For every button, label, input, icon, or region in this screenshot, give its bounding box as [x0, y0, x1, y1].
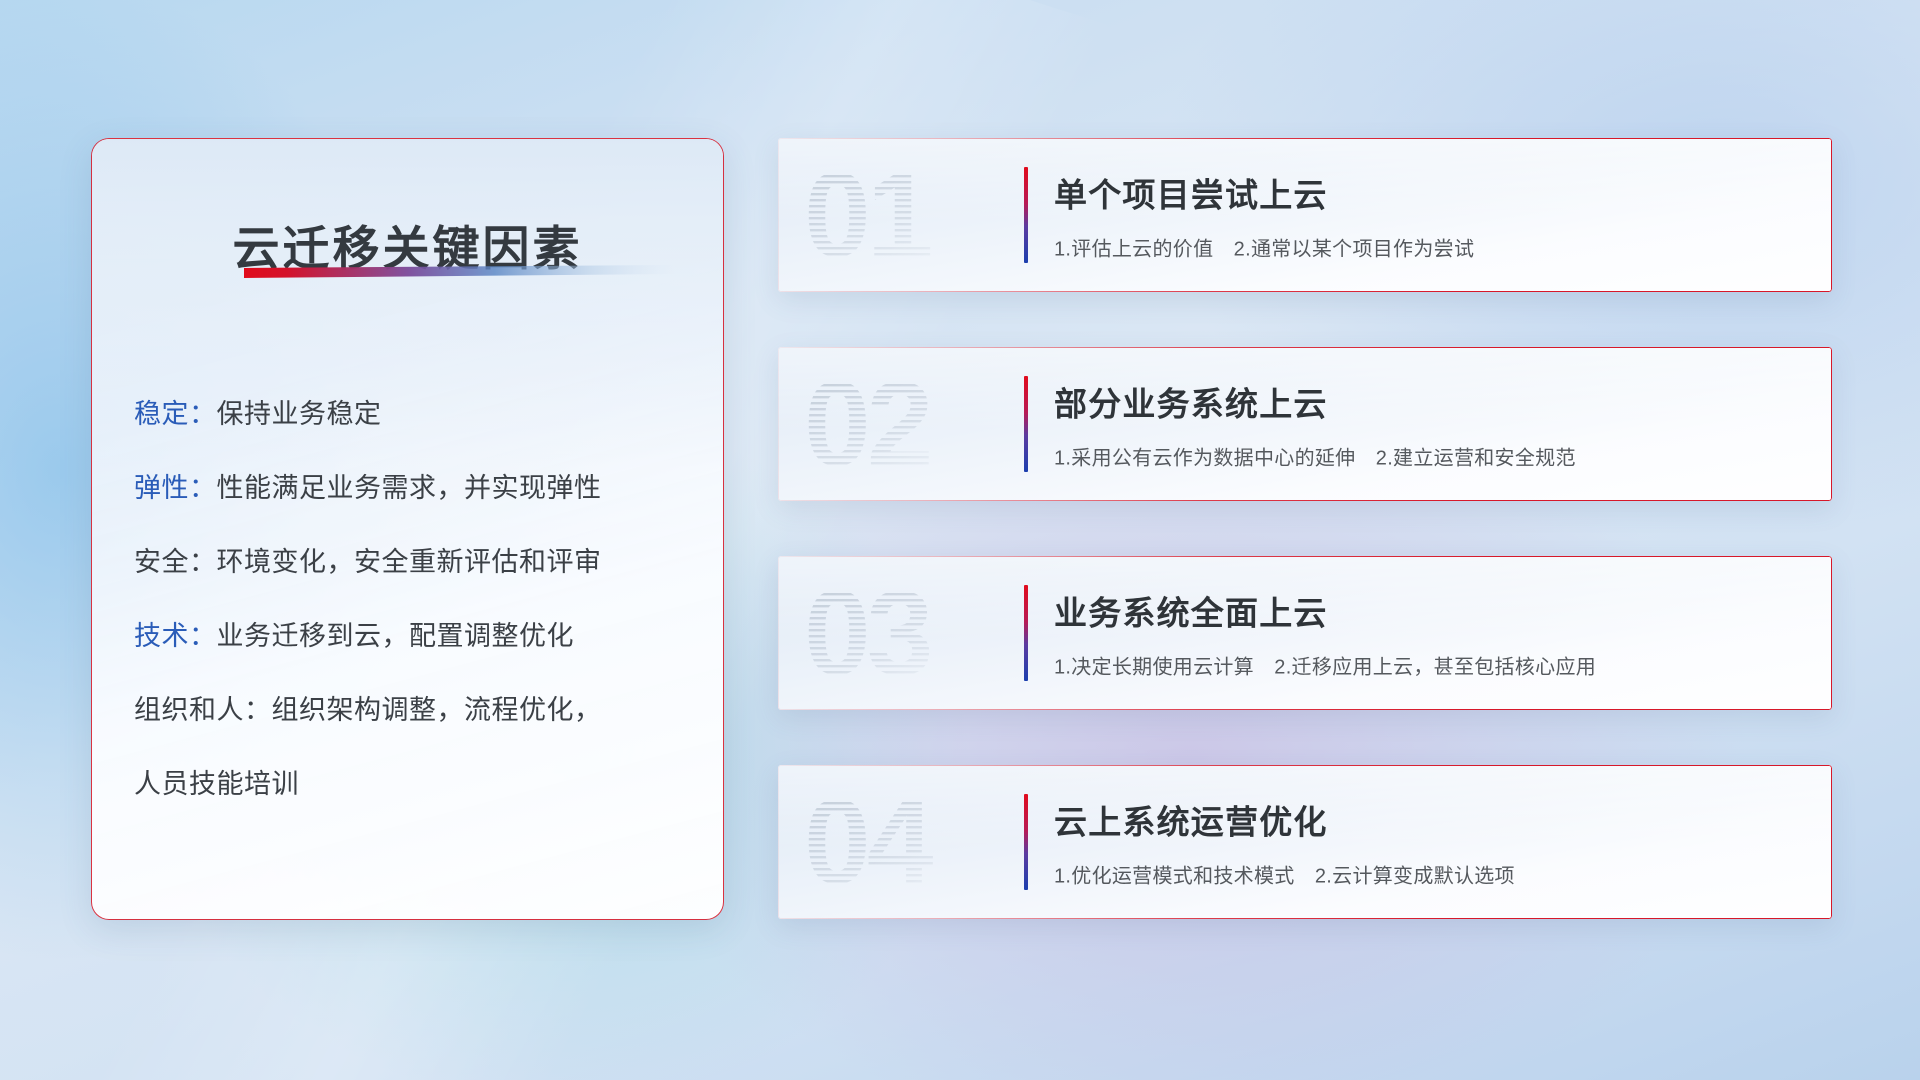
card-accent-bar [1024, 167, 1028, 263]
factor-key: 弹性： [134, 466, 217, 505]
factor-value: 人员技能培训 [134, 762, 299, 801]
factor-row-security: 安全： 环境变化，安全重新评估和评审 [92, 522, 723, 596]
stage-card-04[interactable]: 04 云上系统运营优化 1.优化运营模式和技术模式 2.云计算变成默认选项 [778, 765, 1832, 919]
svg-text:01: 01 [804, 151, 931, 279]
card-subtitle: 1.采用公有云作为数据中心的延伸 2.建立运营和安全规范 [1054, 442, 1804, 471]
card-text-block: 单个项目尝试上云 1.评估上云的价值 2.通常以某个项目作为尝试 [1054, 169, 1804, 262]
factor-row-elasticity: 弹性： 性能满足业务需求，并实现弹性 [92, 448, 723, 522]
factor-key: 稳定： [134, 392, 217, 431]
slide-root: 云迁移关键因素 稳定： 保持业务稳定 [0, 0, 1920, 1080]
card-title: 单个项目尝试上云 [1054, 169, 1804, 217]
factor-value: 性能满足业务需求，并实现弹性 [217, 466, 602, 505]
factor-key: 安全： [134, 540, 217, 579]
stage-cards-list: 01 单个项目尝试上云 1.评估上云的价值 2.通常以某个项目作为尝试 [778, 138, 1832, 919]
svg-text:04: 04 [804, 778, 934, 906]
card-title: 业务系统全面上云 [1054, 587, 1804, 635]
stage-number-03-icon: 03 [802, 569, 982, 697]
key-factors-list: 稳定： 保持业务稳定 弹性： 性能满足业务需求，并实现弹性 安全： 环境变化，安… [92, 374, 723, 818]
card-subtitle: 1.评估上云的价值 2.通常以某个项目作为尝试 [1054, 233, 1804, 262]
card-accent-bar [1024, 794, 1028, 890]
factor-value: 业务迁移到云，配置调整优化 [217, 614, 575, 653]
card-title: 云上系统运营优化 [1054, 796, 1804, 844]
card-subtitle: 1.决定长期使用云计算 2.迁移应用上云，甚至包括核心应用 [1054, 651, 1804, 680]
card-text-block: 部分业务系统上云 1.采用公有云作为数据中心的延伸 2.建立运营和安全规范 [1054, 378, 1804, 471]
card-subtitle: 1.优化运营模式和技术模式 2.云计算变成默认选项 [1054, 860, 1804, 889]
title-underline-gradient [244, 265, 676, 278]
factor-row-organization: 组织和人： 组织架构调整，流程优化， [92, 670, 723, 744]
factor-value: 保持业务稳定 [217, 392, 382, 431]
stage-card-01[interactable]: 01 单个项目尝试上云 1.评估上云的价值 2.通常以某个项目作为尝试 [778, 138, 1832, 292]
factor-value: 环境变化，安全重新评估和评审 [217, 540, 602, 579]
card-accent-bar [1024, 585, 1028, 681]
stage-number-04-icon: 04 [802, 778, 982, 906]
card-title: 部分业务系统上云 [1054, 378, 1804, 426]
factor-key: 组织和人： [134, 688, 272, 727]
card-text-block: 业务系统全面上云 1.决定长期使用云计算 2.迁移应用上云，甚至包括核心应用 [1054, 587, 1804, 680]
card-accent-bar [1024, 376, 1028, 472]
factor-key: 技术： [134, 614, 217, 653]
factor-row-organization-cont: 人员技能培训 [92, 744, 723, 818]
factor-row-technology: 技术： 业务迁移到云，配置调整优化 [92, 596, 723, 670]
factor-value: 组织架构调整，流程优化， [272, 688, 602, 727]
factor-row-stability: 稳定： 保持业务稳定 [92, 374, 723, 448]
card-text-block: 云上系统运营优化 1.优化运营模式和技术模式 2.云计算变成默认选项 [1054, 796, 1804, 889]
stage-card-03[interactable]: 03 业务系统全面上云 1.决定长期使用云计算 2.迁移应用上云，甚至包括核心应… [778, 556, 1832, 710]
svg-text:03: 03 [804, 569, 930, 697]
key-factors-panel: 云迁移关键因素 稳定： 保持业务稳定 [91, 138, 724, 920]
stage-number-02-icon: 02 [802, 360, 982, 488]
stage-number-01-icon: 01 [802, 151, 982, 279]
svg-text:02: 02 [804, 360, 929, 488]
stage-card-02[interactable]: 02 部分业务系统上云 1.采用公有云作为数据中心的延伸 2.建立运营和安全规范 [778, 347, 1832, 501]
